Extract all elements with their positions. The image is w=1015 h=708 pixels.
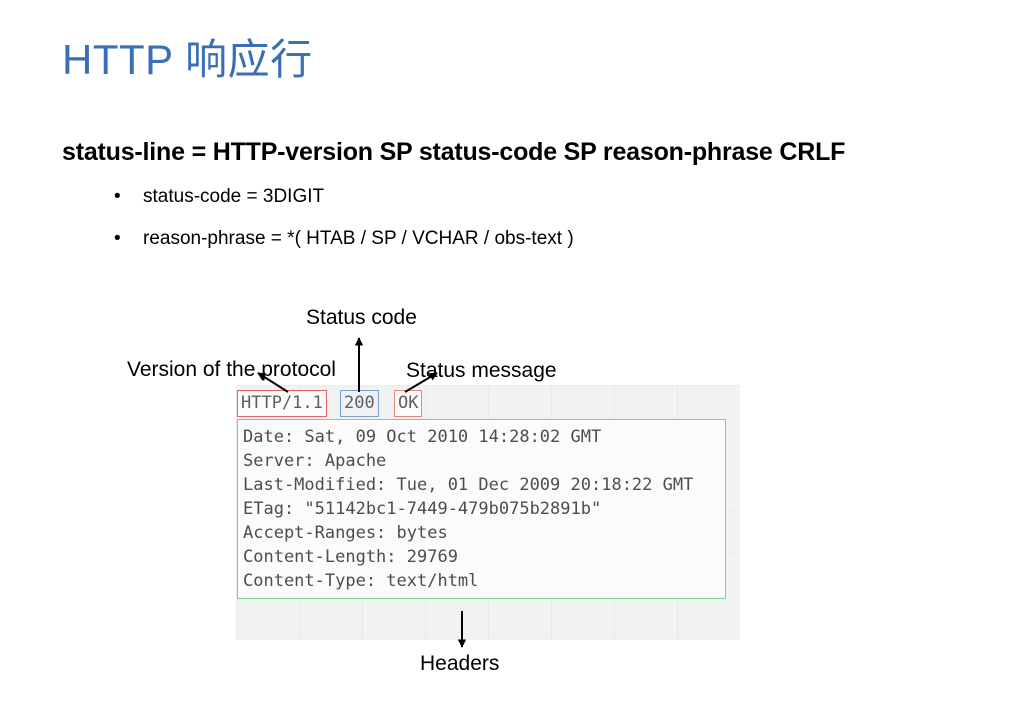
status-line-status-message-box: OK <box>394 390 422 417</box>
list-item: • reason-phrase = *( HTAB / SP / VCHAR /… <box>110 224 574 266</box>
page-title: HTTP 响应行 <box>62 26 313 87</box>
annotation-version-of-the-protocol: Version of the protocol <box>127 358 336 382</box>
status-line-version-box: HTTP/1.1 <box>237 390 327 417</box>
annotation-status-code: Status code <box>306 306 417 330</box>
status-line-status-code-box: 200 <box>340 390 379 417</box>
list-item-label: reason-phrase = *( HTAB / SP / VCHAR / o… <box>143 228 574 249</box>
header-line: ETag: "51142bc1-7449-479b075b2891b" <box>243 497 725 521</box>
header-line: Content-Type: text/html <box>243 569 725 593</box>
header-line: Date: Sat, 09 Oct 2010 14:28:02 GMT <box>243 425 725 449</box>
annotation-status-message: Status message <box>406 359 557 383</box>
header-line: Server: Apache <box>243 449 725 473</box>
header-line: Accept-Ranges: bytes <box>243 521 725 545</box>
bullet-dot-icon: • <box>114 224 121 254</box>
bullet-list: • status-code = 3DIGIT • reason-phrase =… <box>110 182 574 266</box>
list-item: • status-code = 3DIGIT <box>110 182 574 224</box>
header-line: Content-Length: 29769 <box>243 545 725 569</box>
header-line: Last-Modified: Tue, 01 Dec 2009 20:18:22… <box>243 473 725 497</box>
list-item-label: status-code = 3DIGIT <box>143 186 324 207</box>
bullet-dot-icon: • <box>114 182 121 212</box>
http-response-diagram: HTTP/1.1 200 OK Date: Sat, 09 Oct 2010 1… <box>236 385 740 640</box>
response-headers-box: Date: Sat, 09 Oct 2010 14:28:02 GMT Serv… <box>237 419 726 599</box>
abnf-statement: status-line = HTTP-version SP status-cod… <box>62 138 845 167</box>
annotation-headers: Headers <box>420 652 499 676</box>
